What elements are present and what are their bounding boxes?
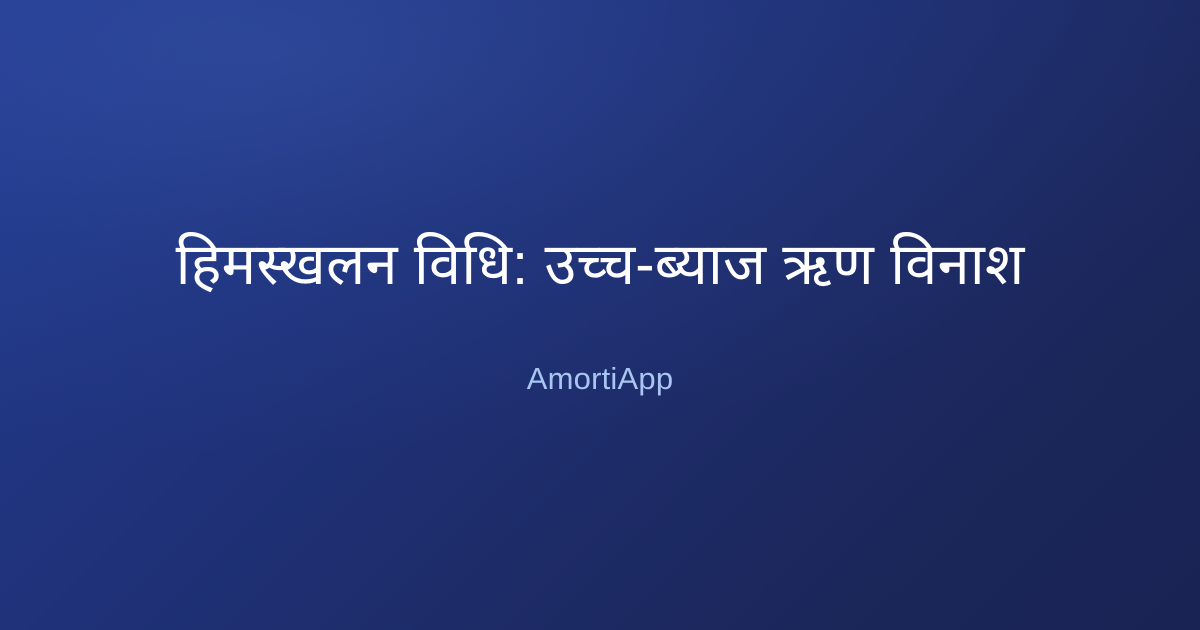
card-content: हिमस्खलन विधि: उच्च-ब्याज ऋण विनाश Amort… xyxy=(0,230,1200,399)
card-subtitle-brand: AmortiApp xyxy=(56,359,1144,399)
card-title: हिमस्खलन विधि: उच्च-ब्याज ऋण विनाश xyxy=(56,230,1144,301)
share-card: हिमस्खलन विधि: उच्च-ब्याज ऋण विनाश Amort… xyxy=(0,0,1200,630)
